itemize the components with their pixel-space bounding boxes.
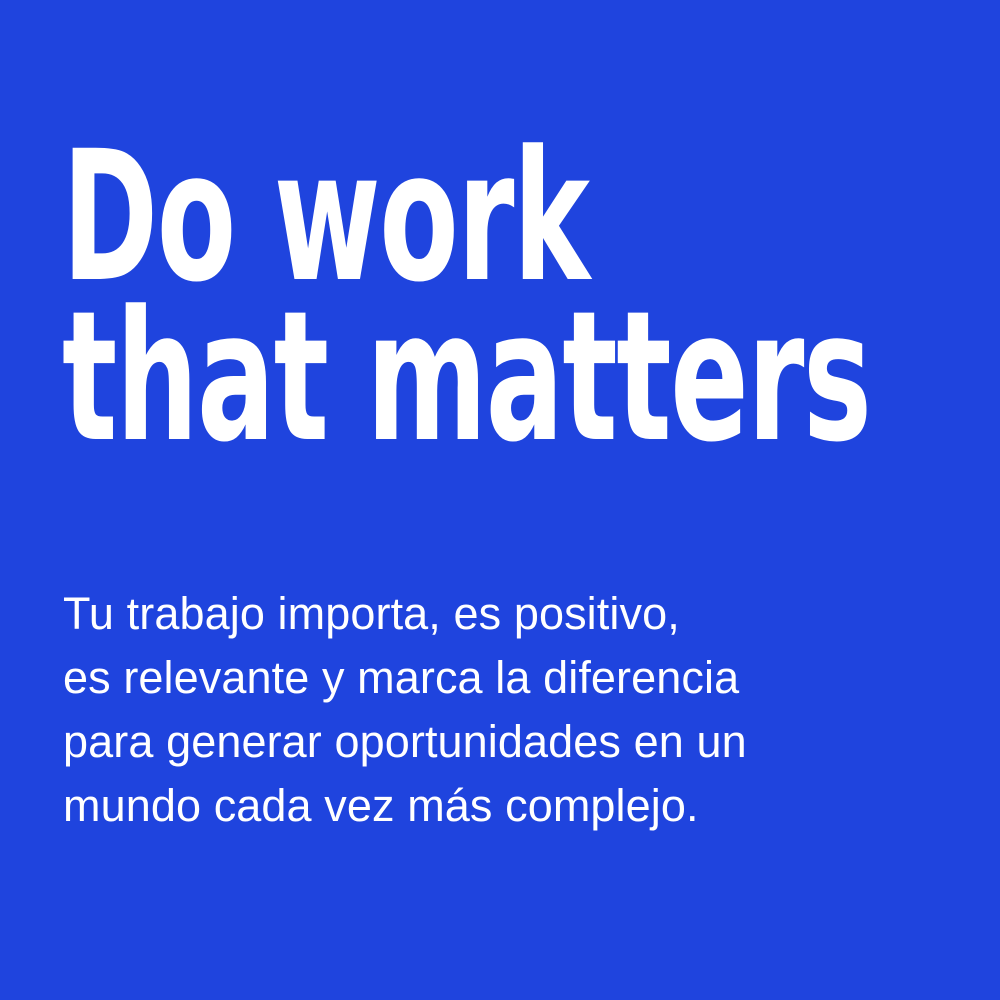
body-copy-block: Tu trabajo importa, es positivo, es rele… xyxy=(63,582,963,838)
body-copy-line-1: Tu trabajo importa, es positivo, xyxy=(63,582,963,646)
body-copy-line-2: es relevante y marca la diferencia xyxy=(63,646,963,710)
body-copy-line-4: mundo cada vez más complejo. xyxy=(63,774,963,838)
body-copy-line-3: para generar oportunidades en un xyxy=(63,710,963,774)
headline-block: Do work that matters xyxy=(62,138,962,458)
promo-poster: Do work that matters Tu trabajo importa,… xyxy=(0,0,1000,1000)
headline-line-2: that matters xyxy=(62,298,706,458)
